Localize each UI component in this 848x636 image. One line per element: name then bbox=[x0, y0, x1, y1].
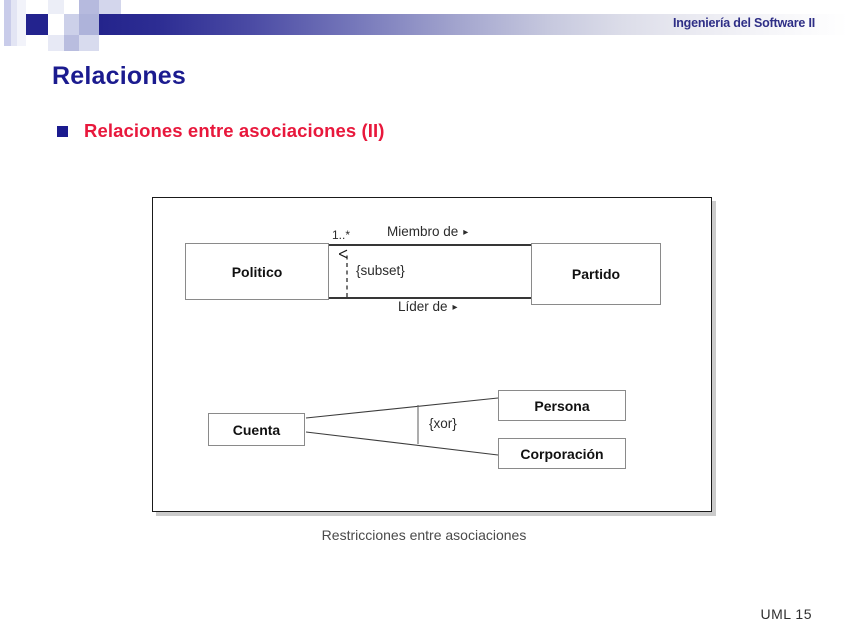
multiplicity-label-politico: 1..* bbox=[332, 228, 350, 242]
constraint-label-subset: {subset} bbox=[356, 263, 405, 278]
diagram-caption: Restricciones entre asociaciones bbox=[0, 527, 848, 543]
association-line-cuenta-corporacion bbox=[306, 432, 498, 455]
bullet-item-label: Relaciones entre asociaciones (II) bbox=[84, 120, 385, 142]
class-name-cuenta: Cuenta bbox=[233, 422, 280, 438]
class-box-partido: Partido bbox=[531, 243, 661, 305]
header-decoration-square-light-2 bbox=[48, 35, 64, 51]
association-label-miembro-de: Miembro de▸ bbox=[387, 224, 468, 239]
header-decoration-stripe-light bbox=[4, 0, 11, 46]
header-decoration-square-medium-4 bbox=[64, 35, 79, 51]
navigability-arrow-icon-lider-de: ▸ bbox=[453, 302, 458, 313]
class-box-politico: Politico bbox=[185, 243, 329, 300]
constraint-label-xor: {xor} bbox=[429, 416, 457, 431]
class-name-corporacion: Corporación bbox=[520, 446, 603, 462]
class-box-cuenta: Cuenta bbox=[208, 413, 305, 446]
bullet-item: Relaciones entre asociaciones (II) bbox=[57, 120, 385, 142]
navigability-arrow-icon-miembro-de: ▸ bbox=[463, 227, 468, 238]
page-title: Relaciones bbox=[52, 62, 186, 91]
association-label-lider-de: Líder de▸ bbox=[398, 299, 458, 314]
header-decoration-square-medium-5 bbox=[79, 35, 99, 51]
association-label-lider-de-text: Líder de bbox=[398, 299, 448, 314]
header-decoration-square-medium-3 bbox=[79, 14, 99, 35]
header-decoration-stripe-palest bbox=[17, 0, 26, 46]
header-decoration-square-medium-1 bbox=[79, 0, 99, 14]
header-decoration-square-top bbox=[99, 0, 121, 14]
course-title: Ingeniería del Software II bbox=[673, 16, 815, 30]
class-name-partido: Partido bbox=[572, 266, 620, 282]
header-decoration-square-navy bbox=[26, 14, 48, 35]
slide-footer: UML 15 bbox=[760, 606, 812, 622]
header-decoration-square-light-1 bbox=[48, 0, 64, 14]
association-label-miembro-de-text: Miembro de bbox=[387, 224, 458, 239]
square-bullet-icon bbox=[57, 126, 68, 137]
uml-diagram-frame: Politico Partido 1..* Miembro de▸ {subse… bbox=[152, 197, 712, 512]
class-box-corporacion: Corporación bbox=[498, 438, 626, 469]
association-line-cuenta-persona bbox=[306, 398, 498, 418]
class-name-persona: Persona bbox=[534, 398, 589, 414]
class-name-politico: Politico bbox=[232, 264, 283, 280]
header-decoration-square-medium-2 bbox=[64, 14, 79, 35]
class-box-persona: Persona bbox=[498, 390, 626, 421]
